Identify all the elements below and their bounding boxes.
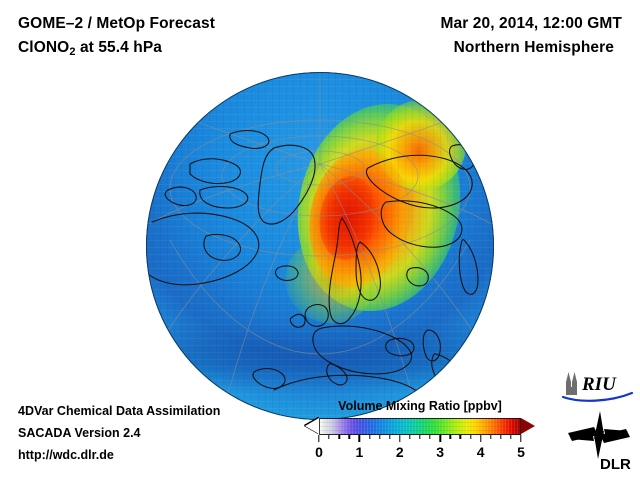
- assimilation-method-label: 4DVar Chemical Data Assimilation: [18, 400, 220, 422]
- colorbar-minor-tick: [460, 435, 461, 439]
- colorbar-minor-tick: [369, 435, 370, 439]
- riu-wordmark: RIU: [581, 374, 617, 395]
- header-right: Mar 20, 2014, 12:00 GMT Northern Hemisph…: [342, 12, 622, 60]
- colorbar: Volume Mixing Ratio [ppbv] 012345: [305, 399, 535, 462]
- map-overlay: [146, 72, 494, 420]
- dlr-wordmark: DLR: [600, 456, 631, 473]
- riu-logo: RIU: [560, 369, 634, 403]
- header-left: GOME–2 / MetOp Forecast ClONO2 at 55.4 h…: [18, 12, 348, 64]
- species-level-title: ClONO2 at 55.4 hPa: [18, 36, 348, 64]
- colorbar-minor-tick: [510, 435, 511, 439]
- colorbar-major-tick: [359, 435, 360, 442]
- region-label: Northern Hemisphere: [342, 36, 622, 60]
- colorbar-gradient: [319, 418, 521, 435]
- colorbar-title: Volume Mixing Ratio [ppbv]: [305, 399, 535, 413]
- dlr-logo: DLR: [564, 409, 634, 473]
- colorbar-minor-tick: [349, 435, 350, 439]
- coastlines: [146, 131, 478, 402]
- colorbar-tick-labels: 012345: [319, 444, 521, 462]
- colorbar-minor-tick: [409, 435, 410, 439]
- colorbar-tick-label: 3: [436, 444, 444, 460]
- colorbar-minor-tick: [450, 435, 451, 439]
- colorbar-minor-tick: [470, 435, 471, 439]
- colorbar-minor-tick: [379, 435, 380, 439]
- colorbar-minor-tick: [419, 435, 420, 439]
- colorbar-major-tick: [399, 435, 400, 442]
- colorbar-tick-label: 0: [315, 444, 323, 460]
- website-url: http://wdc.dlr.de: [18, 444, 220, 466]
- dlr-pinwheel-icon: [568, 411, 630, 459]
- colorbar-tick-label: 4: [477, 444, 485, 460]
- colorbar-minor-tick: [328, 435, 329, 439]
- model-version-label: SACADA Version 2.4: [18, 422, 220, 444]
- globe-sphere: [146, 72, 494, 420]
- colorbar-major-tick: [439, 435, 440, 442]
- colorbar-max-arrow-cap: [521, 418, 535, 434]
- datetime-label: Mar 20, 2014, 12:00 GMT: [342, 12, 622, 36]
- colorbar-ticks: [319, 435, 521, 442]
- species-name: ClONO: [18, 39, 69, 56]
- instrument-title: GOME–2 / MetOp Forecast: [18, 12, 348, 36]
- colorbar-minor-tick: [500, 435, 501, 439]
- globe-map: [146, 72, 494, 420]
- cathedral-spires-icon: [566, 372, 577, 395]
- colorbar-tick-label: 5: [517, 444, 525, 460]
- colorbar-minor-tick: [338, 435, 339, 439]
- footer-credits: 4DVar Chemical Data Assimilation SACADA …: [18, 400, 220, 466]
- colorbar-tick-label: 1: [355, 444, 363, 460]
- colorbar-minor-tick: [490, 435, 491, 439]
- colorbar-scale: [319, 418, 521, 435]
- colorbar-minor-tick: [429, 435, 430, 439]
- pressure-level: at 55.4 hPa: [76, 39, 163, 56]
- colorbar-minor-tick: [389, 435, 390, 439]
- colorbar-major-tick: [480, 435, 481, 442]
- colorbar-major-tick: [520, 435, 521, 442]
- colorbar-major-tick: [318, 435, 319, 442]
- colorbar-tick-label: 2: [396, 444, 404, 460]
- colorbar-min-arrow-cap: [305, 418, 319, 434]
